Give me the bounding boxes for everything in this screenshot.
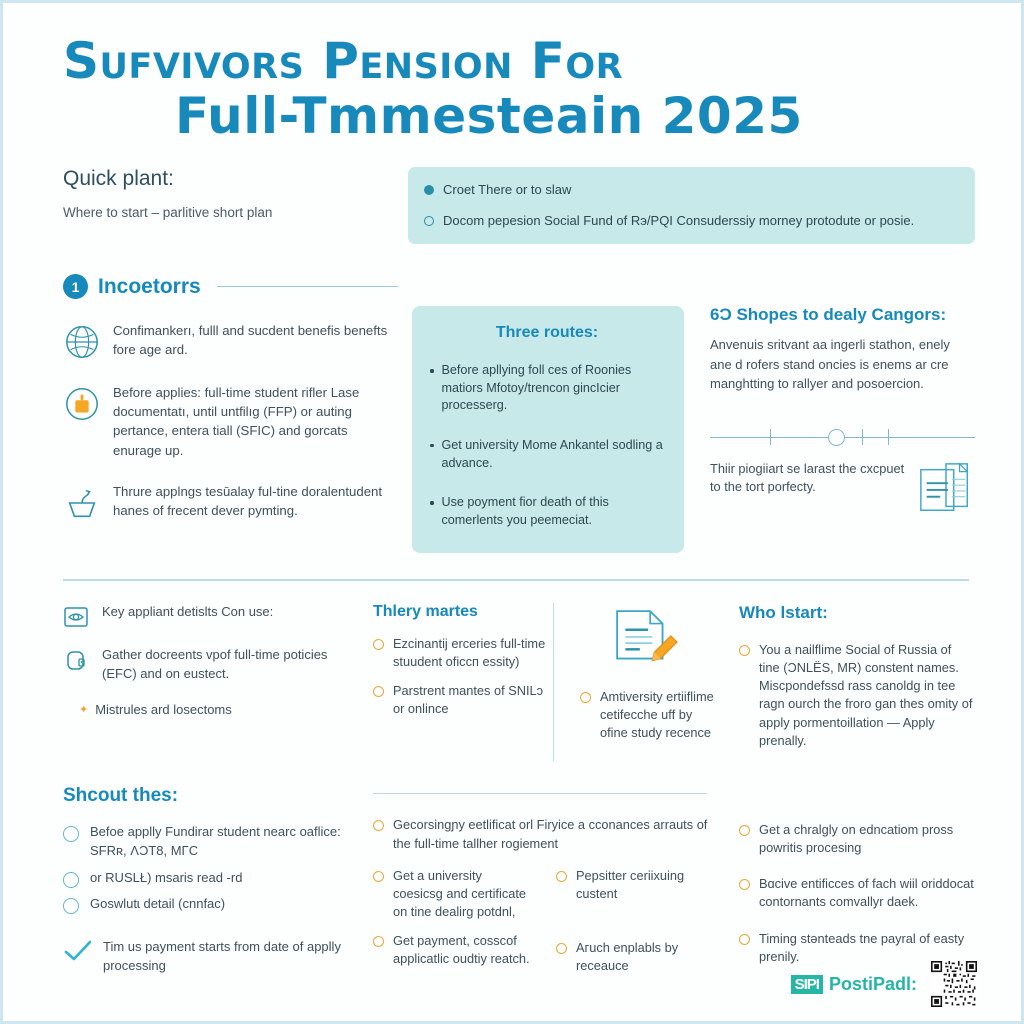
orange-ring-bullet-icon xyxy=(373,820,384,831)
list-item: Get a chralgly on edncatiom pross powrit… xyxy=(739,821,975,857)
list-item: Ezcinantij erceries full-time stuudent o… xyxy=(373,635,553,671)
brand-logo: SIPI PostiPadl: xyxy=(791,974,917,995)
section-one-header: 1 Incoetorrs xyxy=(63,274,398,299)
payment-start-row: Tim us payment starts from date of appll… xyxy=(63,938,363,976)
lock-icon xyxy=(63,647,89,673)
feature-text: Confimankerı, fulll and sucdent benefis … xyxy=(113,321,398,359)
timeline-node-icon xyxy=(828,429,845,446)
list-item-text: Bɑcive entificces of fach wiil oriddocat… xyxy=(759,875,975,911)
list-item-text: Amtiversity ertiiflime cetifecche uff by… xyxy=(600,688,717,742)
mistakes-note: ✦ Mistrules ard losectoms xyxy=(63,702,363,719)
bowl-icon xyxy=(63,484,101,522)
quick-plan-left: Quick plant: Where to start – parlitive … xyxy=(63,167,408,220)
list-item: Gecorsingɲy eetlificat orl Firyice a cco… xyxy=(373,816,717,852)
timeline-tick xyxy=(888,429,889,445)
steps-to-delay-title: 6Ɔ Shopes to dealy Cangors: xyxy=(710,304,975,325)
section-one-middle: Three routes: Before apllying foll ces o… xyxy=(408,274,688,553)
who-start-title: Who lstart: xyxy=(739,603,975,623)
section-two: Key appliant detislts Con use: Gather do… xyxy=(63,603,975,761)
feature-item: Confimankerı, fulll and sucdent benefis … xyxy=(63,321,398,361)
orange-ring-bullet-icon xyxy=(739,825,750,836)
orange-ring-bullet-icon xyxy=(556,943,567,954)
title-line-1: Sufvivors Pension for xyxy=(63,37,975,86)
header-rule xyxy=(217,286,398,288)
cup-icon xyxy=(63,385,101,423)
list-item: Get payment, cosscof applicatlic oudtiy … xyxy=(373,932,534,968)
orange-ring-bullet-icon xyxy=(373,936,384,947)
feature-text: Before applies: full-time student rifler… xyxy=(113,383,398,460)
list-item: Amtiversity ertiiflime cetifecche uff by… xyxy=(580,688,717,742)
title-line-2: Full-Tmmesteain 2025 xyxy=(63,92,975,141)
checklist-item-text: Goswlutɩ detail (cnnfac) xyxy=(90,895,225,914)
section-one-title: Incoetorrs xyxy=(98,275,201,299)
list-item: Pepsitter ceriixuing custent xyxy=(556,867,717,903)
list-item: You a nailflime Social of Russia of tine… xyxy=(739,641,975,750)
dot-bullet-icon xyxy=(430,501,434,505)
list-item-text: Aгuch enplabls by receauce xyxy=(576,939,717,975)
route-item: Use poyment fior death of this comerlent… xyxy=(430,494,664,529)
feature-text: Thrure applngs tesūalay ful-tine doralen… xyxy=(113,482,398,520)
section-divider xyxy=(63,579,969,581)
qr-code[interactable] xyxy=(931,961,977,1007)
route-item-text: Before apllying foll ces of Roonies mati… xyxy=(442,362,665,415)
route-item: Before apllying foll ces of Roonies mati… xyxy=(430,362,664,415)
list-item: Get a university coesicsɡ and certificat… xyxy=(373,867,534,921)
gather-docs-text: Gather docreents vpof full-time poticies… xyxy=(102,646,363,684)
list-item-text: Get a university coesicsɡ and certificat… xyxy=(393,867,534,921)
list-item-text: Get payment, cosscof applicatlic oudtiy … xyxy=(393,932,534,968)
orange-ring-bullet-icon xyxy=(580,692,591,703)
section-one-right: 6Ɔ Shopes to dealy Cangors: Anvenuis sri… xyxy=(688,274,975,553)
section-three: Shcout thes: Befoe applly Fundirar stude… xyxy=(63,785,975,986)
dot-bullet-icon xyxy=(430,369,434,373)
document-edit-icon xyxy=(608,607,717,676)
footer-brand-area: SIPI PostiPadl: xyxy=(791,961,977,1007)
poster-title: Sufvivors Pension for Full-Tmmesteain 20… xyxy=(63,37,975,141)
certificate-block: Amtiversity ertiiflime cetifecche uff by… xyxy=(553,603,717,761)
orange-ring-bullet-icon xyxy=(556,871,567,882)
feature-item: Before applies: full-time student rifler… xyxy=(63,383,398,460)
star-bullet-icon: ✦ xyxy=(79,702,88,719)
route-item-text: Get university Mome Ankantel sodling a a… xyxy=(442,437,665,472)
circle-checkbox-icon[interactable] xyxy=(63,898,79,914)
shcout-thes-title: Shcout thes: xyxy=(63,785,363,807)
ring-bullet-icon xyxy=(424,216,434,226)
checklist-item-text: or RUSLŁ) msaris read -rd xyxy=(90,869,242,888)
timeline-caption-row: Thiir piogiiart se larast the cxcpuet to… xyxy=(710,460,975,523)
key-details-row: Key appliant detislts Con use: xyxy=(63,603,363,630)
dot-bullet-icon xyxy=(430,444,434,448)
list-item-text: Ezcinantij erceries full-time stuudent o… xyxy=(393,635,553,671)
circle-checkbox-icon[interactable] xyxy=(63,872,79,888)
route-item: Get university Mome Ankantel sodling a a… xyxy=(430,437,664,472)
section-one: 1 Incoetorrs Confimankerı, fulll and suc… xyxy=(63,274,975,553)
quick-plan-subtext: Where to start – parlitive short plan xyxy=(63,205,408,220)
quick-plan-row: Quick plant: Where to start – parlitive … xyxy=(63,167,975,244)
section-number-badge: 1 xyxy=(63,274,88,299)
callout-item-text: Croet There or to slaw xyxy=(443,181,571,199)
section-two-left: Key appliant detislts Con use: Gather do… xyxy=(63,603,363,761)
infographic-poster: Sufvivors Pension for Full-Tmmesteain 20… xyxy=(0,0,1024,1024)
list-item: Aгuch enplabls by receauce xyxy=(556,939,717,975)
thlery-martes-block: Thlery martes Ezcinantij erceries full-t… xyxy=(373,603,553,761)
two-column-left: Get a university coesicsɡ and certificat… xyxy=(373,867,534,987)
timeline-tick xyxy=(862,429,863,445)
mistakes-note-text: Mistrules ard losectoms xyxy=(95,702,232,717)
documents-icon xyxy=(917,460,975,523)
globe-icon xyxy=(63,323,101,361)
list-item-text: Get a chralgly on edncatiom pross powrit… xyxy=(759,821,975,857)
callout-item: Docom pepesion Social Fund of Rэ/PQI Con… xyxy=(424,212,957,230)
orange-ring-bullet-icon xyxy=(373,871,384,882)
quick-plan-callout: Croet There or to slaw Docom pepesion So… xyxy=(408,167,975,244)
section-two-right: Who lstart: You a nailflime Social of Ru… xyxy=(717,603,975,761)
list-item-text: You a nailflime Social of Russia of tine… xyxy=(759,641,975,750)
two-column-list: Get a university coesicsɡ and certificat… xyxy=(373,867,717,987)
steps-to-delay-body: Anvenuis sritvant aa ingerli stathon, en… xyxy=(710,335,975,394)
orange-ring-bullet-icon xyxy=(739,645,750,656)
eye-scan-icon xyxy=(63,604,89,630)
two-column-right: Pepsitter ceriixuing custent Aгuch enpla… xyxy=(556,867,717,987)
list-item: Bɑcive entificces of fach wiil oriddocat… xyxy=(739,875,975,911)
brand-text: PostiPadl: xyxy=(829,974,917,995)
checklist-item[interactable]: Goswlutɩ detail (cnnfac) xyxy=(63,895,363,920)
three-routes-box: Three routes: Before apllying foll ces o… xyxy=(412,306,684,553)
callout-item-text: Docom pepesion Social Fund of Rэ/PQI Con… xyxy=(443,212,914,230)
checklist-item-text: Befoe applly Fundirar student nearc oafl… xyxy=(90,823,363,861)
quick-plan-heading: Quick plant: xyxy=(63,167,408,191)
key-details-text: Key appliant detislts Con use: xyxy=(102,603,273,622)
orange-ring-bullet-icon xyxy=(373,686,384,697)
feature-item: Thrure applngs tesūalay ful-tine doralen… xyxy=(63,482,398,522)
check-icon xyxy=(63,939,93,963)
orange-ring-bullet-icon xyxy=(373,639,384,650)
middle-rule xyxy=(373,793,707,795)
orange-ring-bullet-icon xyxy=(739,934,750,945)
list-item-text: Parstrent mantes of SNILɔ or onlince xyxy=(393,682,553,718)
thlery-martes-title: Thlery martes xyxy=(373,603,553,621)
section-one-left: 1 Incoetorrs Confimankerı, fulll and suc… xyxy=(63,274,408,553)
list-item-text: Pepsitter ceriixuing custent xyxy=(576,867,717,903)
section-three-right: Get a chralgly on edncatiom pross powrit… xyxy=(717,785,975,986)
ring-bullet-icon xyxy=(424,185,434,195)
timeline-tick xyxy=(770,429,771,445)
list-item-text: Gecorsingɲy eetlificat orl Firyice a cco… xyxy=(393,816,717,852)
three-routes-title: Three routes: xyxy=(430,324,664,342)
payment-start-text: Tim us payment starts from date of appll… xyxy=(103,938,363,976)
section-three-middle: Gecorsingɲy eetlificat orl Firyice a cco… xyxy=(363,785,717,986)
circle-checkbox-icon[interactable] xyxy=(63,826,79,842)
route-item-text: Use poyment fior death of this comerlent… xyxy=(442,494,665,529)
brand-mark: SIPI xyxy=(791,975,823,994)
timeline-caption-text: Thiir piogiiart se larast the cxcpuet to… xyxy=(710,460,917,497)
checklist-item[interactable]: Befoe applly Fundirar student nearc oafl… xyxy=(63,823,363,867)
list-item: Parstrent mantes of SNILɔ or onlince xyxy=(373,682,553,718)
callout-item: Croet There or to slaw xyxy=(424,181,957,199)
section-three-left: Shcout thes: Befoe applly Fundirar stude… xyxy=(63,785,363,986)
orange-ring-bullet-icon xyxy=(739,879,750,890)
checklist-item[interactable]: or RUSLŁ) msaris read -rd xyxy=(63,869,363,894)
timeline-graphic xyxy=(710,428,975,446)
gather-docs-row: Gather docreents vpof full-time poticies… xyxy=(63,646,363,684)
section-two-middle: Thlery martes Ezcinantij erceries full-t… xyxy=(363,603,717,761)
